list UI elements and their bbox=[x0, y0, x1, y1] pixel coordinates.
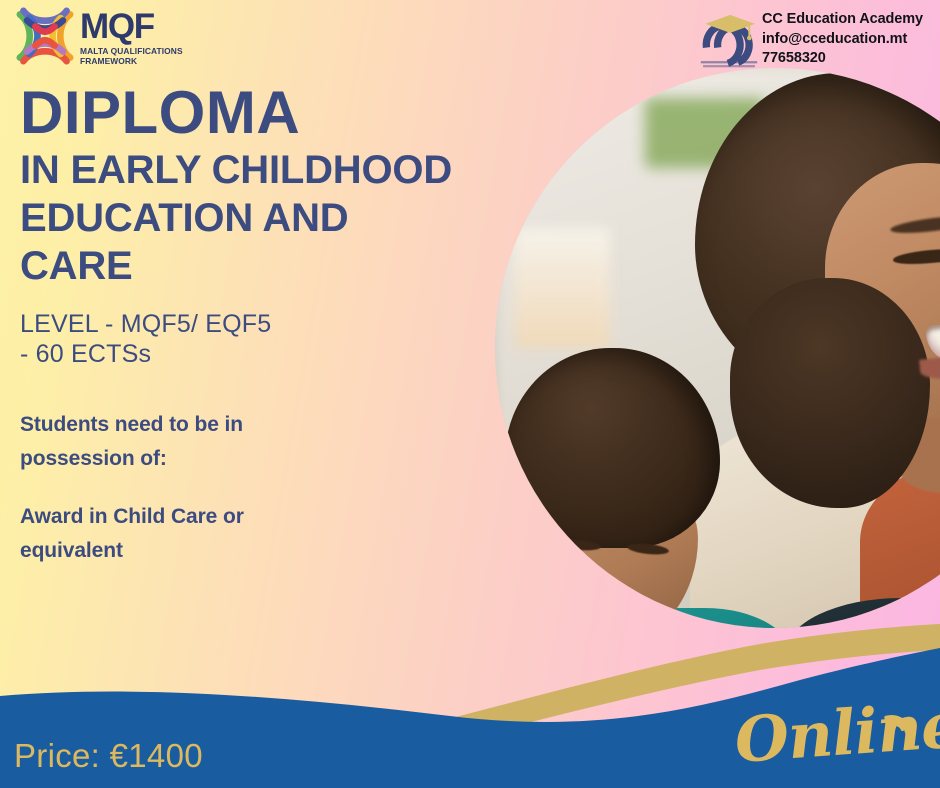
academy-phone[interactable]: 77658320 bbox=[762, 49, 923, 69]
mqf-name-line-1: MALTA QUALIFICATIONS bbox=[80, 46, 183, 56]
requirements-item-line-2: equivalent bbox=[20, 534, 420, 568]
headline-line-2: IN EARLY CHILDHOOD bbox=[20, 146, 490, 194]
graduation-cap-cc-logo-icon bbox=[700, 7, 758, 69]
wifi-signal-icon bbox=[873, 688, 925, 734]
requirements-item-line-1: Award in Child Care or bbox=[20, 500, 420, 534]
qualification-level: LEVEL - MQF5/ EQF5 - 60 ECTSs bbox=[20, 309, 450, 369]
entry-requirements: Students need to be in possession of: Aw… bbox=[20, 408, 420, 568]
price-label: Price: €1400 bbox=[14, 737, 203, 775]
academy-email[interactable]: info@cceducation.mt bbox=[762, 30, 923, 50]
level-line-1: LEVEL - MQF5/ EQF5 bbox=[20, 309, 450, 339]
headline-line-4: CARE bbox=[20, 242, 490, 290]
promotional-poster: MQF MALTA QUALIFICATIONS FRAMEWORK CC Ed… bbox=[0, 0, 940, 788]
mqf-star-logo-icon bbox=[14, 6, 76, 66]
academy-name: CC Education Academy bbox=[762, 10, 923, 30]
teacher-and-child-photo bbox=[495, 68, 940, 628]
requirements-intro-line-2: possession of: bbox=[20, 442, 420, 476]
mqf-abbreviation: MQF bbox=[80, 9, 183, 45]
headline-line-1: DIPLOMA bbox=[20, 82, 490, 144]
requirements-intro-line-1: Students need to be in bbox=[20, 408, 420, 442]
level-line-2: - 60 ECTSs bbox=[20, 339, 450, 369]
headline-line-3: EDUCATION AND bbox=[20, 194, 490, 242]
delivery-mode-badge: Online bbox=[735, 690, 940, 785]
mqf-name-line-2: FRAMEWORK bbox=[80, 56, 183, 66]
spacer bbox=[20, 476, 420, 500]
academy-contact-block: CC Education Academy info@cceducation.mt… bbox=[700, 5, 936, 73]
mqf-logo: MQF MALTA QUALIFICATIONS FRAMEWORK bbox=[14, 6, 184, 68]
page-title: DIPLOMA IN EARLY CHILDHOOD EDUCATION AND… bbox=[20, 82, 490, 290]
